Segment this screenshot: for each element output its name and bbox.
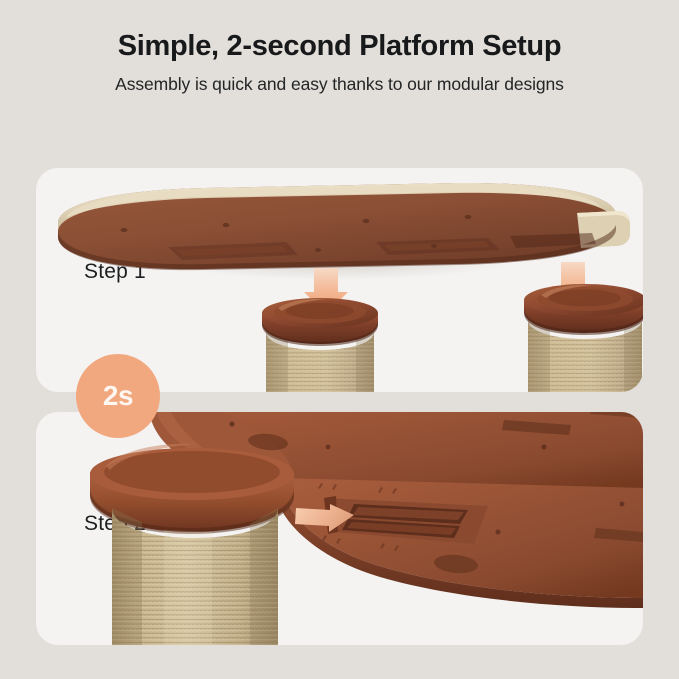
infographic-page: Simple, 2-second Platform Setup Assembly…: [0, 0, 679, 679]
step-2-card: Step 2: [36, 412, 643, 645]
step-2-illustration: [36, 412, 643, 645]
duration-badge: 2s: [76, 354, 160, 438]
platform-board: [58, 183, 630, 280]
header: Simple, 2-second Platform Setup Assembly…: [0, 0, 679, 95]
scratching-post-right: [524, 284, 643, 392]
scratching-post-left: [262, 298, 378, 392]
page-title: Simple, 2-second Platform Setup: [0, 0, 679, 63]
page-subtitle: Assembly is quick and easy thanks to our…: [0, 63, 679, 95]
duration-badge-label: 2s: [103, 382, 133, 410]
